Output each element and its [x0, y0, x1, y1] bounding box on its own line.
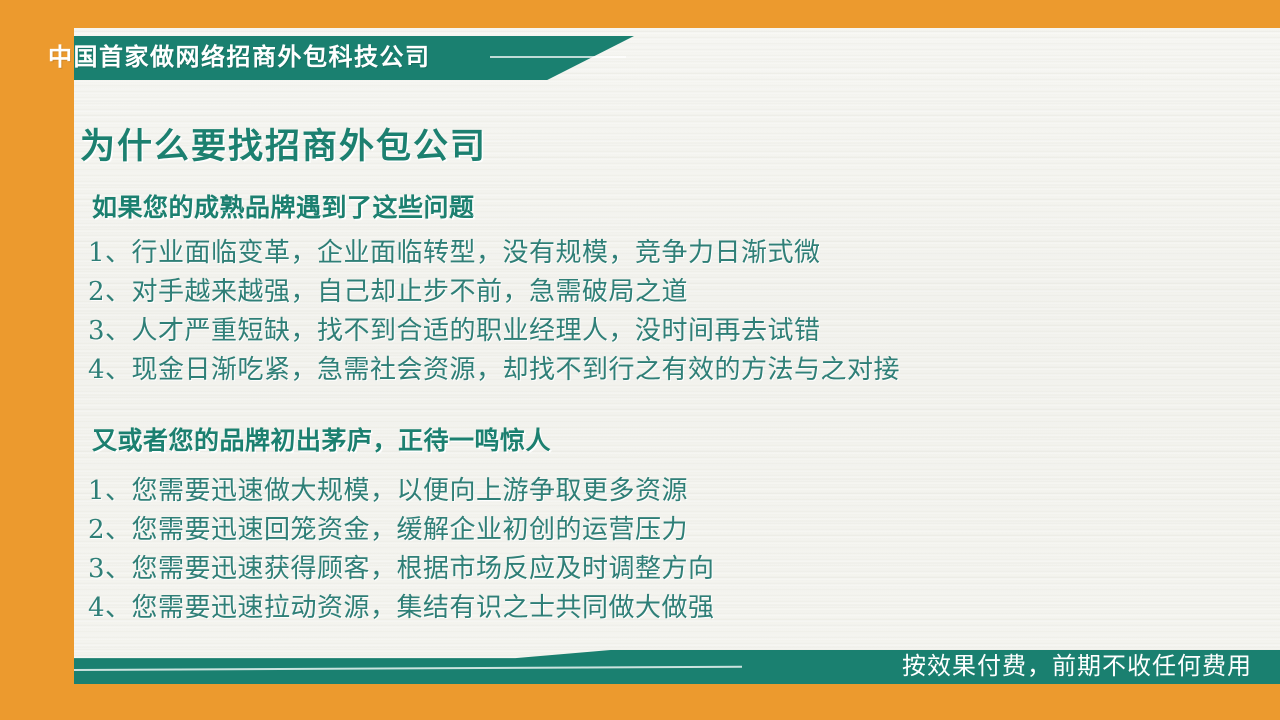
bullet-list-1: 1、行业面临变革，企业面临转型，没有规模，竞争力日渐式微 2、对手越来越强，自己… [88, 234, 900, 390]
top-banner-rule [490, 56, 626, 58]
list-item: 2、您需要迅速回笼资金，缓解企业初创的运营压力 [88, 511, 715, 550]
bullet-list-2: 1、您需要迅速做大规模，以便向上游争取更多资源 2、您需要迅速回笼资金，缓解企业… [88, 472, 715, 628]
list-item: 1、行业面临变革，企业面临转型，没有规模，竞争力日渐式微 [88, 234, 900, 273]
list-item: 2、对手越来越强，自己却止步不前，急需破局之道 [88, 273, 900, 312]
slide-canvas: 中国首家做网络招商外包科技公司 为什么要找招商外包公司 如果您的成熟品牌遇到了这… [0, 0, 1280, 720]
footer-label: 按效果付费，前期不收任何费用 [902, 650, 1252, 684]
top-banner-label: 中国首家做网络招商外包科技公司 [48, 42, 431, 74]
list-item: 4、现金日渐吃紧，急需社会资源，却找不到行之有效的方法与之对接 [88, 351, 900, 390]
page-title: 为什么要找招商外包公司 [80, 118, 487, 169]
list-item: 3、人才严重短缺，找不到合适的职业经理人，没时间再去试错 [88, 312, 900, 351]
section-heading-2: 又或者您的品牌初出茅庐，正待一鸣惊人 [92, 421, 551, 457]
list-item: 1、您需要迅速做大规模，以便向上游争取更多资源 [88, 472, 715, 511]
list-item: 3、您需要迅速获得顾客，根据市场反应及时调整方向 [88, 550, 715, 589]
section-heading-1: 如果您的成熟品牌遇到了这些问题 [92, 188, 475, 224]
list-item: 4、您需要迅速拉动资源，集结有识之士共同做大做强 [88, 589, 715, 628]
